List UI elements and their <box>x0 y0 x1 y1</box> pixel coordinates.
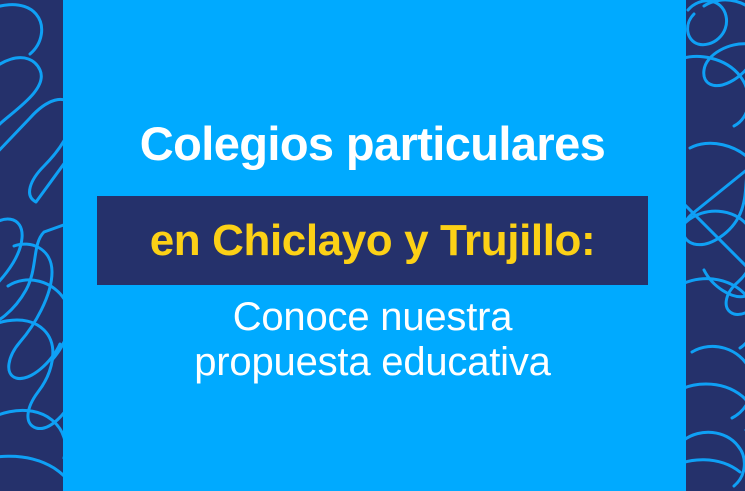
promo-banner: Colegios particulares en Chiclayo y Truj… <box>0 0 745 491</box>
highlight-band: en Chiclayo y Trujillo: <box>97 196 648 285</box>
decorative-panel-left <box>0 0 63 491</box>
decorative-panel-right <box>682 0 745 491</box>
squiggle-pattern-left-icon <box>0 0 63 491</box>
subheadline-line-1: Conoce nuestra <box>63 295 682 340</box>
highlight-band-text: en Chiclayo y Trujillo: <box>150 219 596 263</box>
content-column: Colegios particulares en Chiclayo y Truj… <box>63 0 682 491</box>
banner-subheadline: Conoce nuestra propuesta educativa <box>63 295 682 385</box>
panel-edge-rule <box>682 0 686 491</box>
subheadline-line-2: propuesta educativa <box>63 340 682 385</box>
squiggle-pattern-right-icon <box>682 0 745 491</box>
banner-headline: Colegios particulares <box>63 119 682 168</box>
